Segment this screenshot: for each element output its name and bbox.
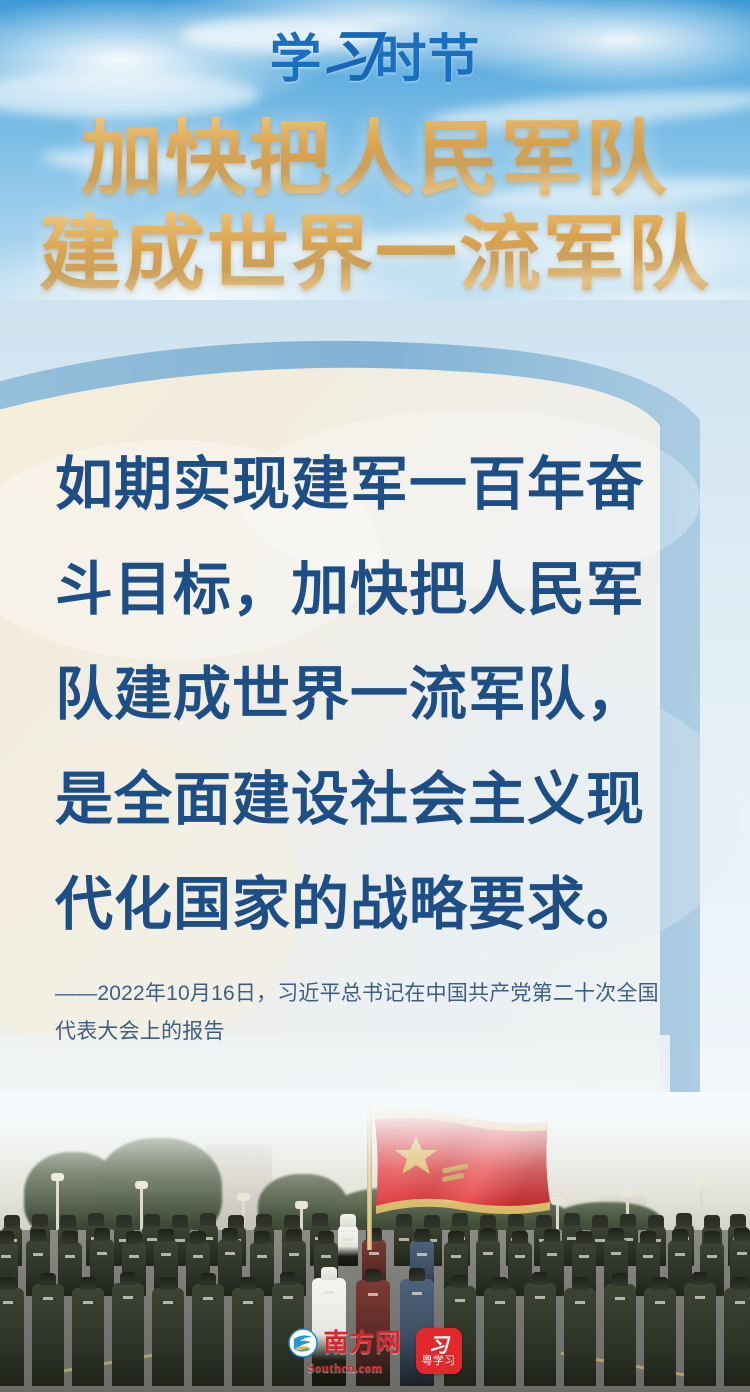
pla-army-flag (372, 1106, 552, 1224)
attribution-line: 代表大会上的报告 (55, 1013, 705, 1051)
quote-line: 代化国家的战略要求。 (55, 852, 695, 957)
logo-bar: 南方网 Southcn.com 习 粤学习 (0, 1328, 750, 1374)
quote-attribution: ——2022年10月16日，习近平总书记在中国共产党第二十次全国 代表大会上的报… (55, 975, 705, 1051)
brand-logo: 学 习 时节 (0, 26, 750, 94)
yue-xi-glyph: 习 (429, 1336, 449, 1354)
yue-label: 粤学习 (422, 1355, 456, 1367)
quote-line: 斗目标，加快把人民军 (55, 537, 695, 642)
southcn-logo[interactable]: 南方网 Southcn.com (288, 1328, 401, 1374)
poster-root: 学 习 时节 加快把人民军队 建成世界一流军队 (0, 0, 750, 1392)
yuexuexi-logo[interactable]: 习 粤学习 (416, 1328, 462, 1374)
brand-char-xue: 学 (269, 34, 322, 86)
southcn-url: Southcn.com (307, 1361, 382, 1374)
southcn-swoosh-icon (288, 1328, 318, 1358)
attribution-line: ——2022年10月16日，习近平总书记在中国共产党第二十次全国 (55, 975, 705, 1013)
quote-text: 如期实现建军一百年奋 斗目标，加快把人民军 队建成世界一流军队， 是全面建设社会… (55, 432, 695, 957)
title-line-1: 加快把人民军队 (0, 112, 750, 207)
quote-line: 队建成世界一流军队， (55, 642, 695, 747)
quote-line: 是全面建设社会主义现 (55, 747, 695, 852)
brand-char-shijie: 时节 (375, 34, 481, 86)
brand-char-xi-cursive: 习 (317, 29, 381, 85)
quote-line: 如期实现建军一百年奋 (55, 432, 695, 537)
title-line-2: 建成世界一流军队 (0, 207, 750, 302)
southcn-name: 南方网 (323, 1331, 401, 1356)
page-title: 加快把人民军队 建成世界一流军队 (0, 112, 750, 302)
